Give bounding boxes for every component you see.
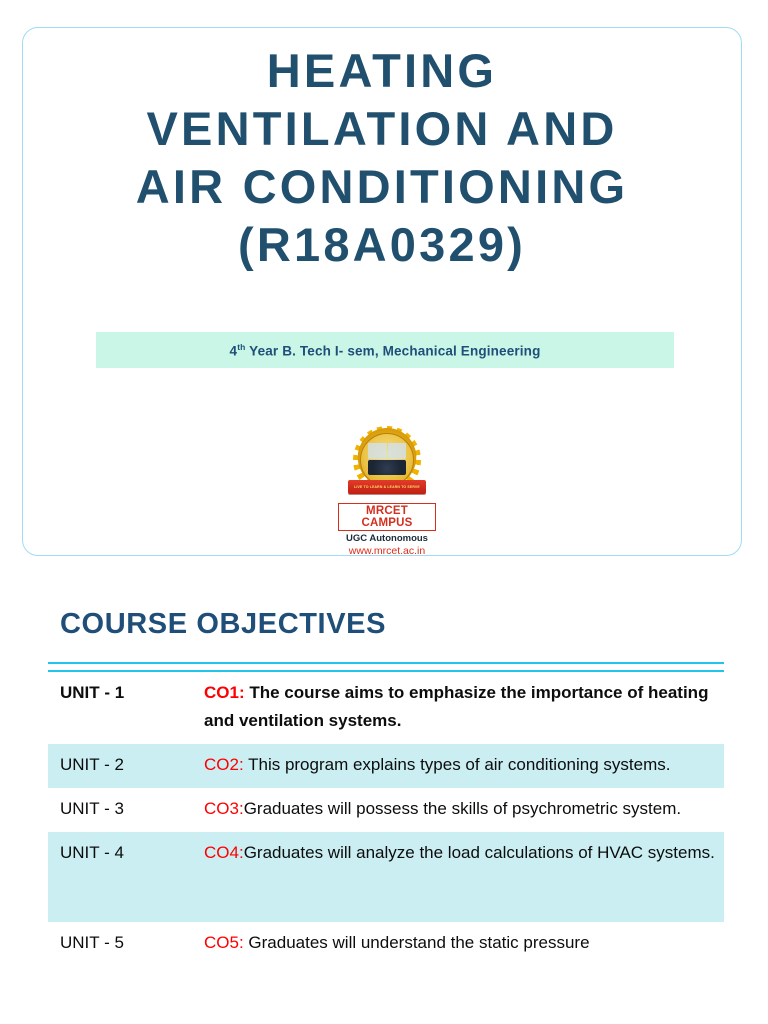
mrcet-logo: LIVE TO LEARN & LEARN TO SERVE MRCET CAM… [338,426,436,557]
objective-text: CO3:Graduates will possess the skills of… [204,788,724,832]
section-heading: COURSE OBJECTIVES [60,608,386,641]
title-line-4: (R18A0329) [43,216,721,274]
unit-label: UNIT - 2 [48,744,204,788]
table-row: UNIT - 2 CO2: This program explains type… [48,744,724,788]
subtitle-banner: 4th Year B. Tech I- sem, Mechanical Engi… [96,332,674,368]
co-tag: CO4: [204,843,244,862]
title-line-3: AIR CONDITIONING [43,158,721,216]
objective-body: Graduates will analyze the load calculat… [244,843,715,862]
emblem-motif [368,443,406,475]
co-tag: CO1: [204,683,245,702]
graduation-cap-icon [368,460,406,476]
unit-label: UNIT - 1 [48,672,204,744]
unit-label: UNIT - 4 [48,832,204,922]
objective-body: This program explains types of air condi… [244,755,671,774]
unit-label: UNIT - 5 [48,922,204,966]
objective-text: CO1: The course aims to emphasize the im… [204,672,724,744]
row-spacer [204,867,718,913]
objective-text: CO5: Graduates will understand the stati… [204,922,724,966]
logo-campus-label: MRCET CAMPUS [338,503,436,531]
objective-body: The course aims to emphasize the importa… [204,683,708,730]
table-top-rule [48,662,724,664]
motif-tower-icon [368,443,387,459]
emblem-motto-ribbon: LIVE TO LEARN & LEARN TO SERVE [348,480,426,494]
subtitle-rest: Year B. Tech I- sem, Mechanical Engineer… [246,343,541,358]
objective-body: Graduates will possess the skills of psy… [244,799,681,818]
subtitle-text: 4th Year B. Tech I- sem, Mechanical Engi… [230,342,541,359]
co-tag: CO2: [204,755,244,774]
title-line-1: HEATING [43,42,721,100]
emblem-disc [360,433,414,487]
logo-accreditation-label: UGC Autonomous [338,533,436,544]
motif-satellite-icon [388,443,407,459]
page-title: HEATING VENTILATION AND AIR CONDITIONING… [43,42,721,274]
subtitle-ordinal-suffix: th [237,342,245,352]
table-row: UNIT - 3 CO3:Graduates will possess the … [48,788,724,832]
objective-text: CO2: This program explains types of air … [204,744,724,788]
logo-website-link[interactable]: www.mrcet.ac.in [338,545,436,557]
table-row: UNIT - 5 CO5: Graduates will understand … [48,922,724,966]
mrcet-emblem-icon: LIVE TO LEARN & LEARN TO SERVE [348,426,426,500]
co-tag: CO3: [204,799,244,818]
title-line-2: VENTILATION AND [43,100,721,158]
table-row: UNIT - 4 CO4:Graduates will analyze the … [48,832,724,922]
title-card: HEATING VENTILATION AND AIR CONDITIONING… [22,27,742,556]
course-objectives-table: UNIT - 1 CO1: The course aims to emphasi… [48,662,724,966]
co-tag: CO5: [204,933,244,952]
table-row: UNIT - 1 CO1: The course aims to emphasi… [48,672,724,744]
objective-body: Graduates will understand the static pre… [244,933,590,952]
objective-text: CO4:Graduates will analyze the load calc… [204,832,724,922]
unit-label: UNIT - 3 [48,788,204,832]
